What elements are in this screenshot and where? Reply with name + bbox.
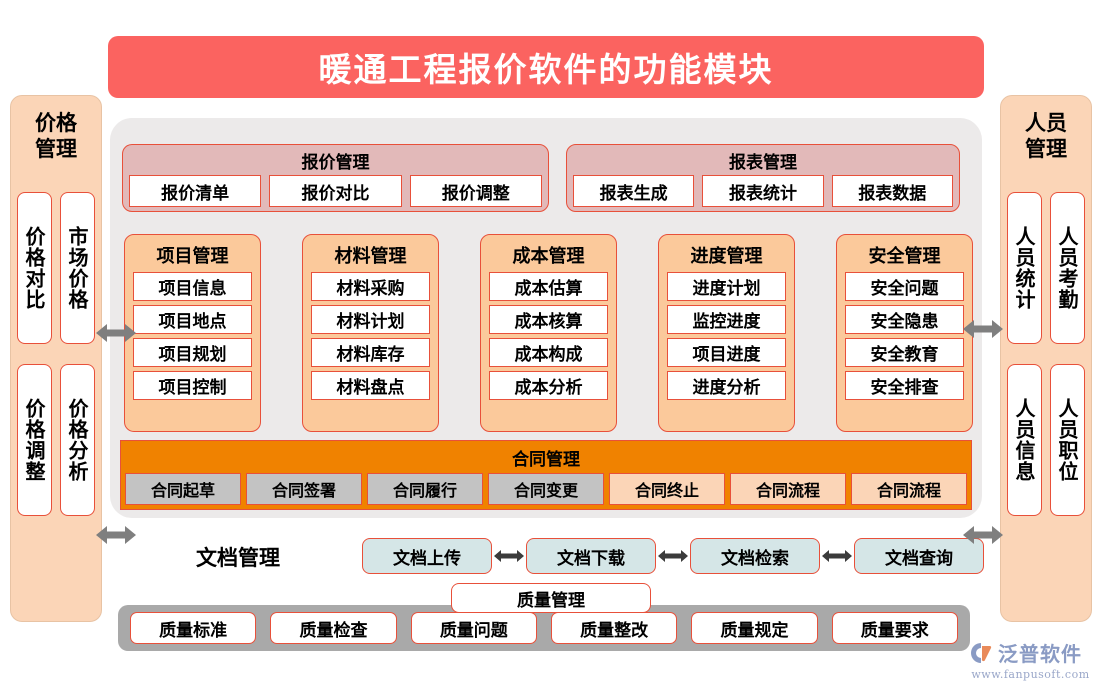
project-item-planning[interactable]: 项目规划 <box>133 338 252 367</box>
document-management-row: 文档上传 文档下载 文档检索 文档查询 <box>362 538 984 574</box>
safety-item-education[interactable]: 安全教育 <box>845 338 964 367</box>
safety-item-inspection[interactable]: 安全排查 <box>845 371 964 400</box>
panel-report-management: 报表管理 报表生成 报表统计 报表数据 <box>566 144 960 212</box>
panel-quote-header: 报价管理 <box>123 148 548 173</box>
sidebar-right-title: 人员 管理 <box>1001 110 1091 162</box>
connector-arrow-right-bottom <box>963 524 1003 546</box>
quote-item-list[interactable]: 报价清单 <box>129 175 261 207</box>
double-arrow-icon <box>820 548 854 564</box>
sidebar-item-personnel-stats[interactable]: 人员统计 <box>1007 192 1042 344</box>
column-cost-header: 成本管理 <box>481 242 616 268</box>
sidebar-left-title: 价格 管理 <box>11 110 101 162</box>
connector-arrow-right-top <box>963 318 1003 340</box>
quality-item-standard[interactable]: 质量标准 <box>130 612 256 644</box>
column-progress-management: 进度管理 进度计划 监控进度 项目进度 进度分析 <box>658 234 795 432</box>
progress-item-project[interactable]: 项目进度 <box>667 338 786 367</box>
sidebar-right-row-2: 人员信息 人员职位 <box>1007 364 1085 516</box>
page-title: 暖通工程报价软件的功能模块 <box>319 43 774 91</box>
material-item-purchase[interactable]: 材料采购 <box>311 272 430 301</box>
column-project-header: 项目管理 <box>125 242 260 268</box>
diagram-root: 暖通工程报价软件的功能模块 价格 管理 价格对比 市场价格 价格调整 价格分析 … <box>0 0 1100 700</box>
safety-item-issue[interactable]: 安全问题 <box>845 272 964 301</box>
panel-contract-management: 合同管理 合同起草 合同签署 合同履行 合同变更 合同终止 合同流程 合同流程 <box>120 440 972 510</box>
material-item-stocktake[interactable]: 材料盘点 <box>311 371 430 400</box>
safety-item-hazard[interactable]: 安全隐患 <box>845 305 964 334</box>
contract-items: 合同起草 合同签署 合同履行 合同变更 合同终止 合同流程 合同流程 <box>121 470 971 505</box>
document-item-upload[interactable]: 文档上传 <box>362 538 492 574</box>
quality-management-header: 质量管理 <box>451 583 651 613</box>
column-project-management: 项目管理 项目信息 项目地点 项目规划 项目控制 <box>124 234 261 432</box>
fanpu-logo-icon <box>968 640 994 666</box>
contract-item-process-2[interactable]: 合同流程 <box>851 473 967 505</box>
quality-item-rectify[interactable]: 质量整改 <box>551 612 677 644</box>
document-item-download[interactable]: 文档下载 <box>526 538 656 574</box>
sidebar-item-market-price[interactable]: 市场价格 <box>60 192 95 344</box>
column-safety-header: 安全管理 <box>837 242 972 268</box>
column-material-management: 材料管理 材料采购 材料计划 材料库存 材料盘点 <box>302 234 439 432</box>
panel-quote-items: 报价清单 报价对比 报价调整 <box>123 173 548 207</box>
project-item-info[interactable]: 项目信息 <box>133 272 252 301</box>
sidebar-item-price-analysis[interactable]: 价格分析 <box>60 364 95 516</box>
sidebar-item-price-adjust[interactable]: 价格调整 <box>17 364 52 516</box>
sidebar-item-price-compare[interactable]: 价格对比 <box>17 192 52 344</box>
column-material-header: 材料管理 <box>303 242 438 268</box>
material-item-inventory[interactable]: 材料库存 <box>311 338 430 367</box>
progress-item-analysis[interactable]: 进度分析 <box>667 371 786 400</box>
panel-report-items: 报表生成 报表统计 报表数据 <box>567 173 959 207</box>
document-item-search[interactable]: 文档检索 <box>690 538 820 574</box>
panel-report-header: 报表管理 <box>567 148 959 173</box>
quote-item-adjust[interactable]: 报价调整 <box>410 175 542 207</box>
quote-item-compare[interactable]: 报价对比 <box>269 175 401 207</box>
sidebar-item-personnel-position[interactable]: 人员职位 <box>1050 364 1085 516</box>
sidebar-left-row-1: 价格对比 市场价格 <box>17 192 95 344</box>
progress-item-plan[interactable]: 进度计划 <box>667 272 786 301</box>
quality-item-issue[interactable]: 质量问题 <box>411 612 537 644</box>
column-safety-management: 安全管理 安全问题 安全隐患 安全教育 安全排查 <box>836 234 973 432</box>
panel-quote-management: 报价管理 报价清单 报价对比 报价调整 <box>122 144 549 212</box>
company-logo: 泛普软件 www.fanpusoft.com <box>968 638 1093 686</box>
logo-website-url: www.fanpusoft.com <box>968 668 1093 681</box>
material-item-plan[interactable]: 材料计划 <box>311 305 430 334</box>
contract-item-change[interactable]: 合同变更 <box>488 473 604 505</box>
contract-item-process-1[interactable]: 合同流程 <box>730 473 846 505</box>
project-item-control[interactable]: 项目控制 <box>133 371 252 400</box>
column-progress-header: 进度管理 <box>659 242 794 268</box>
quality-item-inspection[interactable]: 质量检查 <box>270 612 396 644</box>
sidebar-right-row-1: 人员统计 人员考勤 <box>1007 192 1085 344</box>
column-cost-management: 成本管理 成本估算 成本核算 成本构成 成本分析 <box>480 234 617 432</box>
report-item-generate[interactable]: 报表生成 <box>573 175 694 207</box>
connector-arrow-left-top <box>96 322 136 344</box>
logo-top-row: 泛普软件 <box>968 638 1093 667</box>
contract-item-sign[interactable]: 合同签署 <box>246 473 362 505</box>
contract-item-perform[interactable]: 合同履行 <box>367 473 483 505</box>
cost-item-composition[interactable]: 成本构成 <box>489 338 608 367</box>
connector-arrow-left-bottom <box>96 524 136 546</box>
sidebar-item-personnel-info[interactable]: 人员信息 <box>1007 364 1042 516</box>
double-arrow-icon <box>492 548 526 564</box>
cost-item-analysis[interactable]: 成本分析 <box>489 371 608 400</box>
contract-header: 合同管理 <box>121 441 971 470</box>
logo-company-name: 泛普软件 <box>998 638 1082 667</box>
cost-item-estimate[interactable]: 成本估算 <box>489 272 608 301</box>
cost-item-accounting[interactable]: 成本核算 <box>489 305 608 334</box>
sidebar-item-personnel-attendance[interactable]: 人员考勤 <box>1050 192 1085 344</box>
report-item-data[interactable]: 报表数据 <box>832 175 953 207</box>
sidebar-left-row-2: 价格调整 价格分析 <box>17 364 95 516</box>
double-arrow-icon <box>656 548 690 564</box>
contract-item-draft[interactable]: 合同起草 <box>125 473 241 505</box>
sidebar-personnel-management: 人员 管理 人员统计 人员考勤 人员信息 人员职位 <box>1000 95 1092 622</box>
page-title-bar: 暖通工程报价软件的功能模块 <box>108 36 984 98</box>
progress-item-monitor[interactable]: 监控进度 <box>667 305 786 334</box>
quality-item-regulation[interactable]: 质量规定 <box>691 612 817 644</box>
sidebar-price-management: 价格 管理 价格对比 市场价格 价格调整 价格分析 <box>10 95 102 622</box>
quality-item-requirement[interactable]: 质量要求 <box>832 612 958 644</box>
project-item-location[interactable]: 项目地点 <box>133 305 252 334</box>
contract-item-terminate[interactable]: 合同终止 <box>609 473 725 505</box>
document-management-label: 文档管理 <box>196 542 280 572</box>
report-item-statistics[interactable]: 报表统计 <box>702 175 823 207</box>
